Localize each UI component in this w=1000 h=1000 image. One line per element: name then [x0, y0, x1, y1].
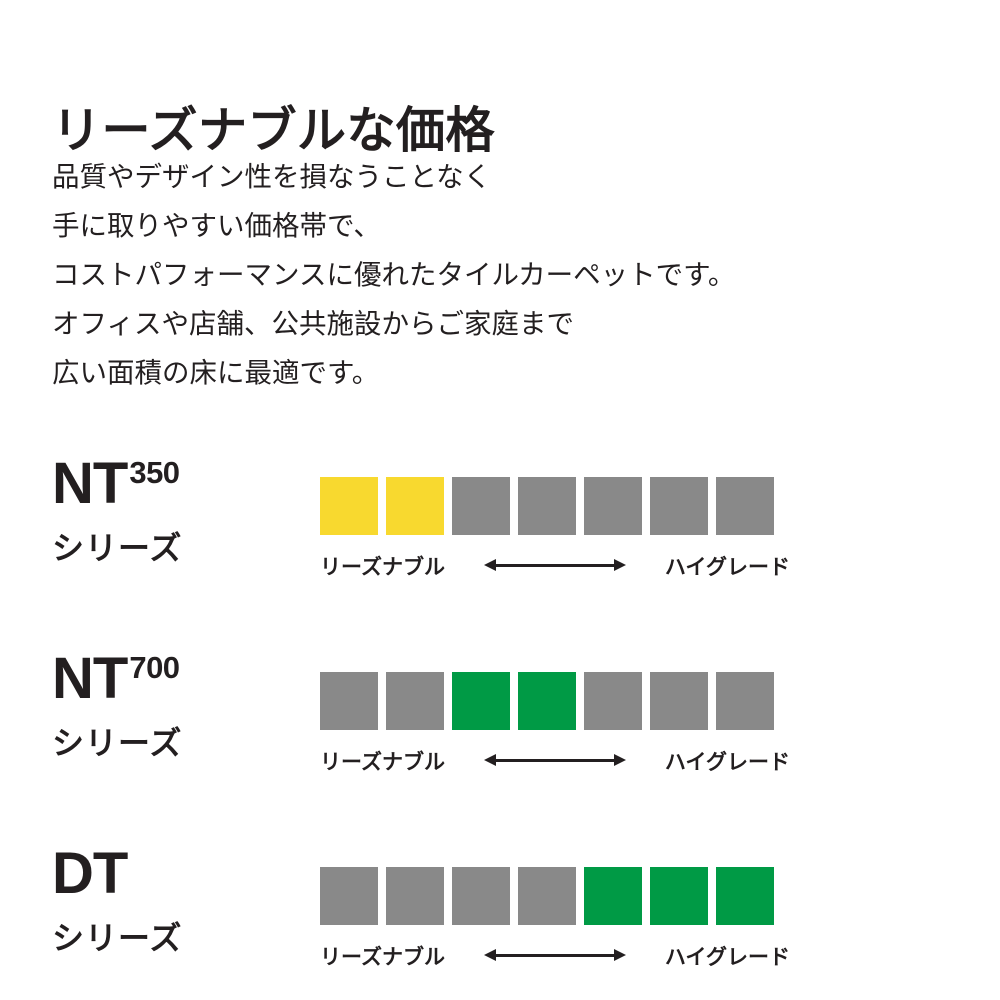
- series-name-wrap: DT: [52, 845, 282, 907]
- series-name: NT: [52, 650, 127, 708]
- swatch: [584, 477, 642, 535]
- swatch: [320, 867, 378, 925]
- series-subtitle: シリーズ: [52, 523, 282, 569]
- swatch: [518, 477, 576, 535]
- swatch: [650, 477, 708, 535]
- scale-left-label: リーズナブル: [320, 551, 445, 581]
- series-number: 700: [129, 652, 179, 683]
- series-label: NT 700 シリーズ: [52, 650, 282, 764]
- body-line: 広い面積の床に最適です。: [52, 348, 735, 397]
- swatch: [716, 672, 774, 730]
- swatch-strip: [320, 477, 774, 535]
- series-label: NT 350 シリーズ: [52, 455, 282, 569]
- body-line: 品質やデザイン性を損なうことなく: [52, 152, 735, 201]
- swatch: [584, 672, 642, 730]
- series-subtitle: シリーズ: [52, 913, 282, 959]
- body-line: コストパフォーマンスに優れたタイルカーペットです。: [52, 250, 735, 299]
- body-line: オフィスや店舗、公共施設からご家庭まで: [52, 299, 735, 348]
- scale-left-label: リーズナブル: [320, 746, 445, 776]
- scale-right-label: ハイグレード: [665, 551, 790, 581]
- swatch: [320, 672, 378, 730]
- swatch: [386, 477, 444, 535]
- swatch: [452, 867, 510, 925]
- series-name-wrap: NT 700: [52, 650, 282, 712]
- body-copy: 品質やデザイン性を損なうことなく 手に取りやすい価格帯で、 コストパフォーマンス…: [52, 152, 735, 397]
- double-arrow-icon: [484, 557, 626, 575]
- double-arrow-icon: [484, 947, 626, 965]
- swatch: [320, 477, 378, 535]
- swatch: [518, 672, 576, 730]
- series-name: DT: [52, 845, 127, 903]
- scale-caption: リーズナブル ハイグレード: [320, 551, 790, 581]
- scale-caption: リーズナブル ハイグレード: [320, 941, 790, 971]
- swatch: [386, 672, 444, 730]
- scale-right-label: ハイグレード: [665, 746, 790, 776]
- series-name-wrap: NT 350: [52, 455, 282, 517]
- series-label: DT シリーズ: [52, 845, 282, 959]
- swatch: [452, 477, 510, 535]
- double-arrow-icon: [484, 752, 626, 770]
- swatch: [650, 867, 708, 925]
- swatch: [452, 672, 510, 730]
- swatch: [716, 477, 774, 535]
- scale-right-label: ハイグレード: [665, 941, 790, 971]
- body-line: 手に取りやすい価格帯で、: [52, 201, 735, 250]
- swatch: [584, 867, 642, 925]
- scale-caption: リーズナブル ハイグレード: [320, 746, 790, 776]
- swatch: [716, 867, 774, 925]
- swatch-strip: [320, 672, 774, 730]
- swatch: [518, 867, 576, 925]
- series-name: NT: [52, 455, 127, 513]
- scale-left-label: リーズナブル: [320, 941, 445, 971]
- swatch-strip: [320, 867, 774, 925]
- series-subtitle: シリーズ: [52, 718, 282, 764]
- series-number: 350: [129, 457, 179, 488]
- page-root: リーズナブルな価格 品質やデザイン性を損なうことなく 手に取りやすい価格帯で、 …: [0, 0, 1000, 1000]
- swatch: [386, 867, 444, 925]
- swatch: [650, 672, 708, 730]
